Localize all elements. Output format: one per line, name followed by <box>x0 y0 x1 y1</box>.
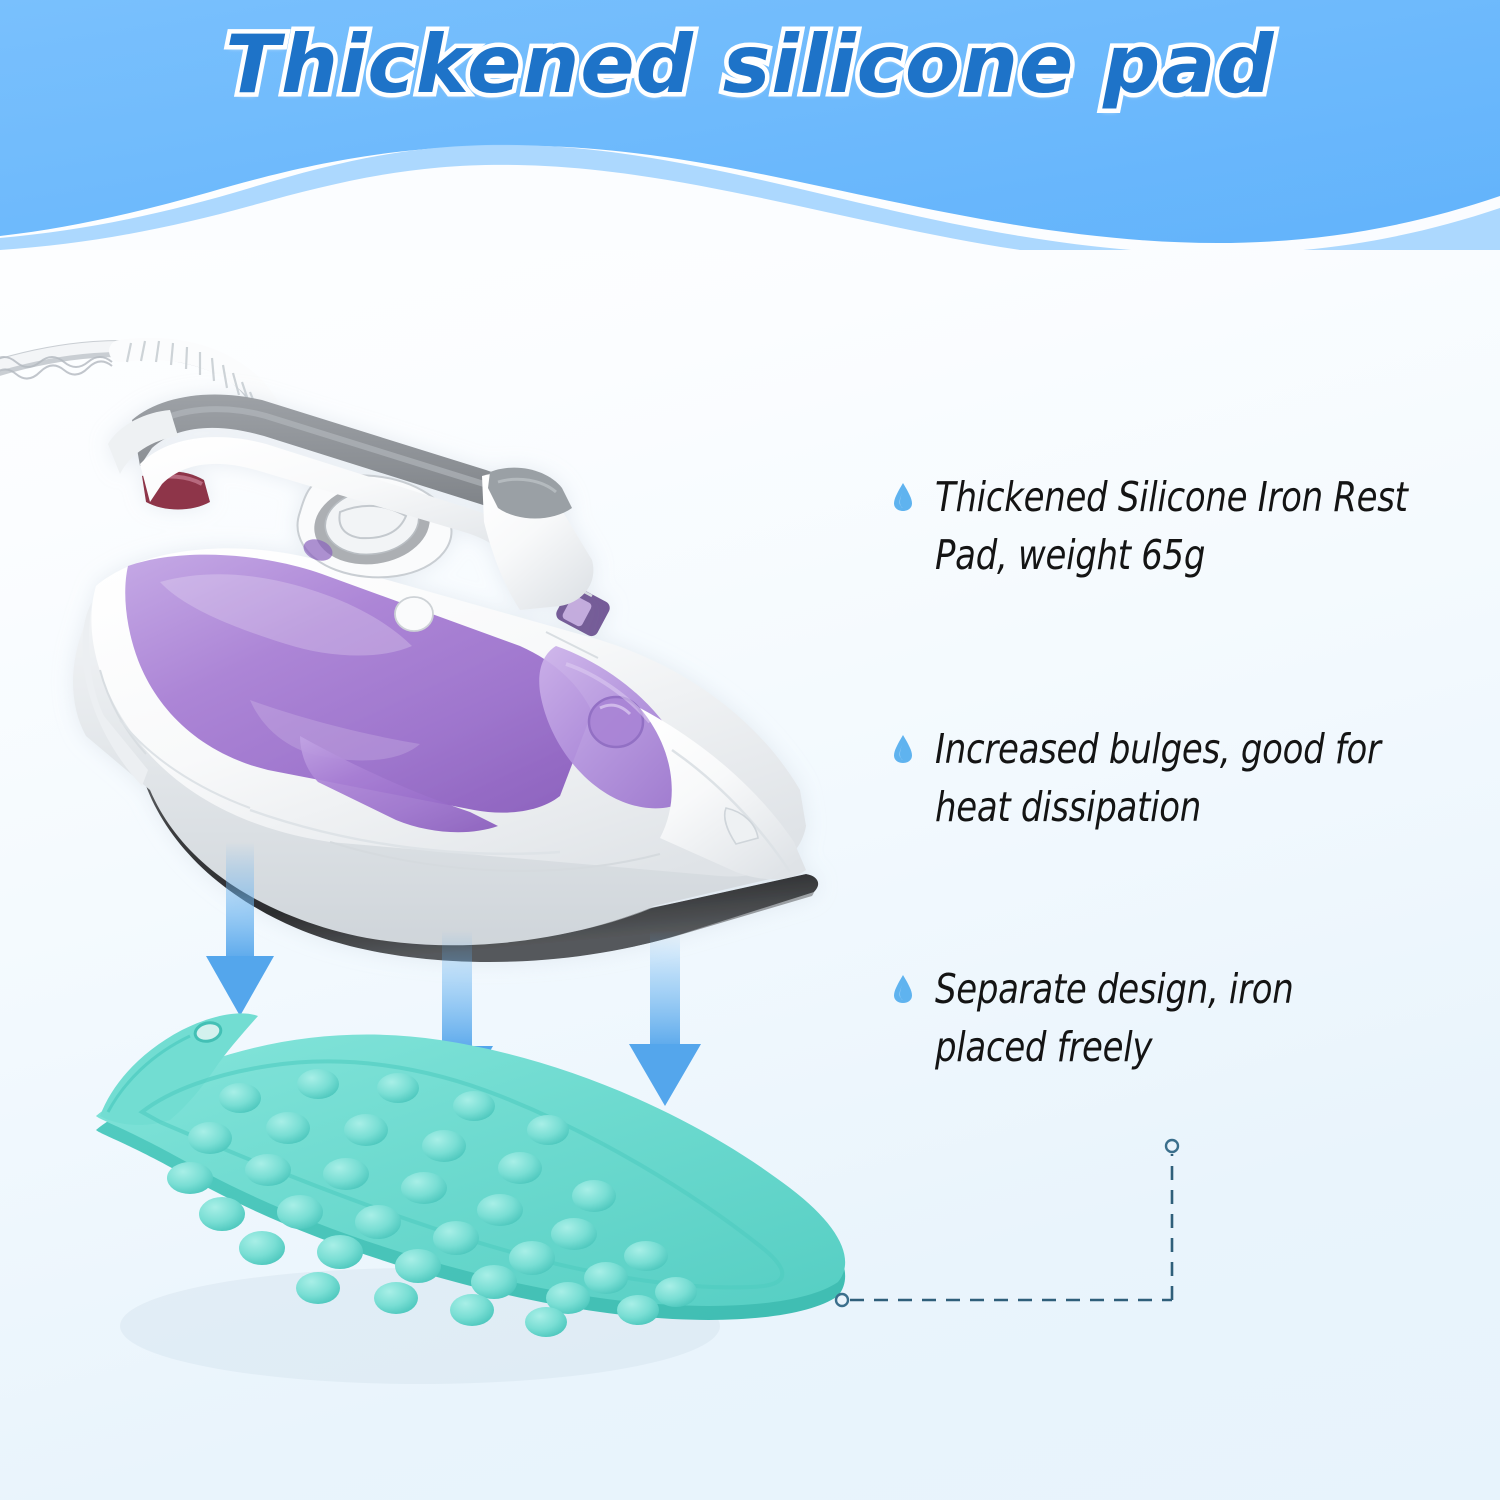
water-drop-icon <box>893 482 913 517</box>
feature-item-2: Increased bulges, good for heat dissipat… <box>893 720 1493 836</box>
header-wave-graphic <box>0 0 1500 250</box>
iron-handle-front-post <box>482 468 593 610</box>
product-artwork <box>0 230 900 1410</box>
header-banner: Thickened silicone pad <box>0 0 1500 250</box>
water-drop-icon <box>893 974 913 1009</box>
product-infographic: Thickened silicone pad <box>0 0 1500 1500</box>
steam-iron <box>73 394 818 962</box>
feature-item-3: Separate design, iron placed freely <box>893 960 1493 1076</box>
water-drop-icon <box>893 734 913 769</box>
callout-dashed-line <box>820 1120 1240 1340</box>
arrow-3 <box>629 930 701 1106</box>
silicone-iron-rest-pad <box>96 1013 845 1384</box>
feature-item-1: Thickened Silicone Iron Rest Pad, weight… <box>893 468 1493 584</box>
dimension-callout <box>820 1120 1240 1340</box>
product-illustration <box>0 230 900 1410</box>
iron-spray-button <box>395 597 433 631</box>
feature-text-3: Separate design, iron placed freely <box>935 960 1293 1076</box>
feature-text-1: Thickened Silicone Iron Rest Pad, weight… <box>935 468 1408 584</box>
feature-text-2: Increased bulges, good for heat dissipat… <box>935 720 1381 836</box>
